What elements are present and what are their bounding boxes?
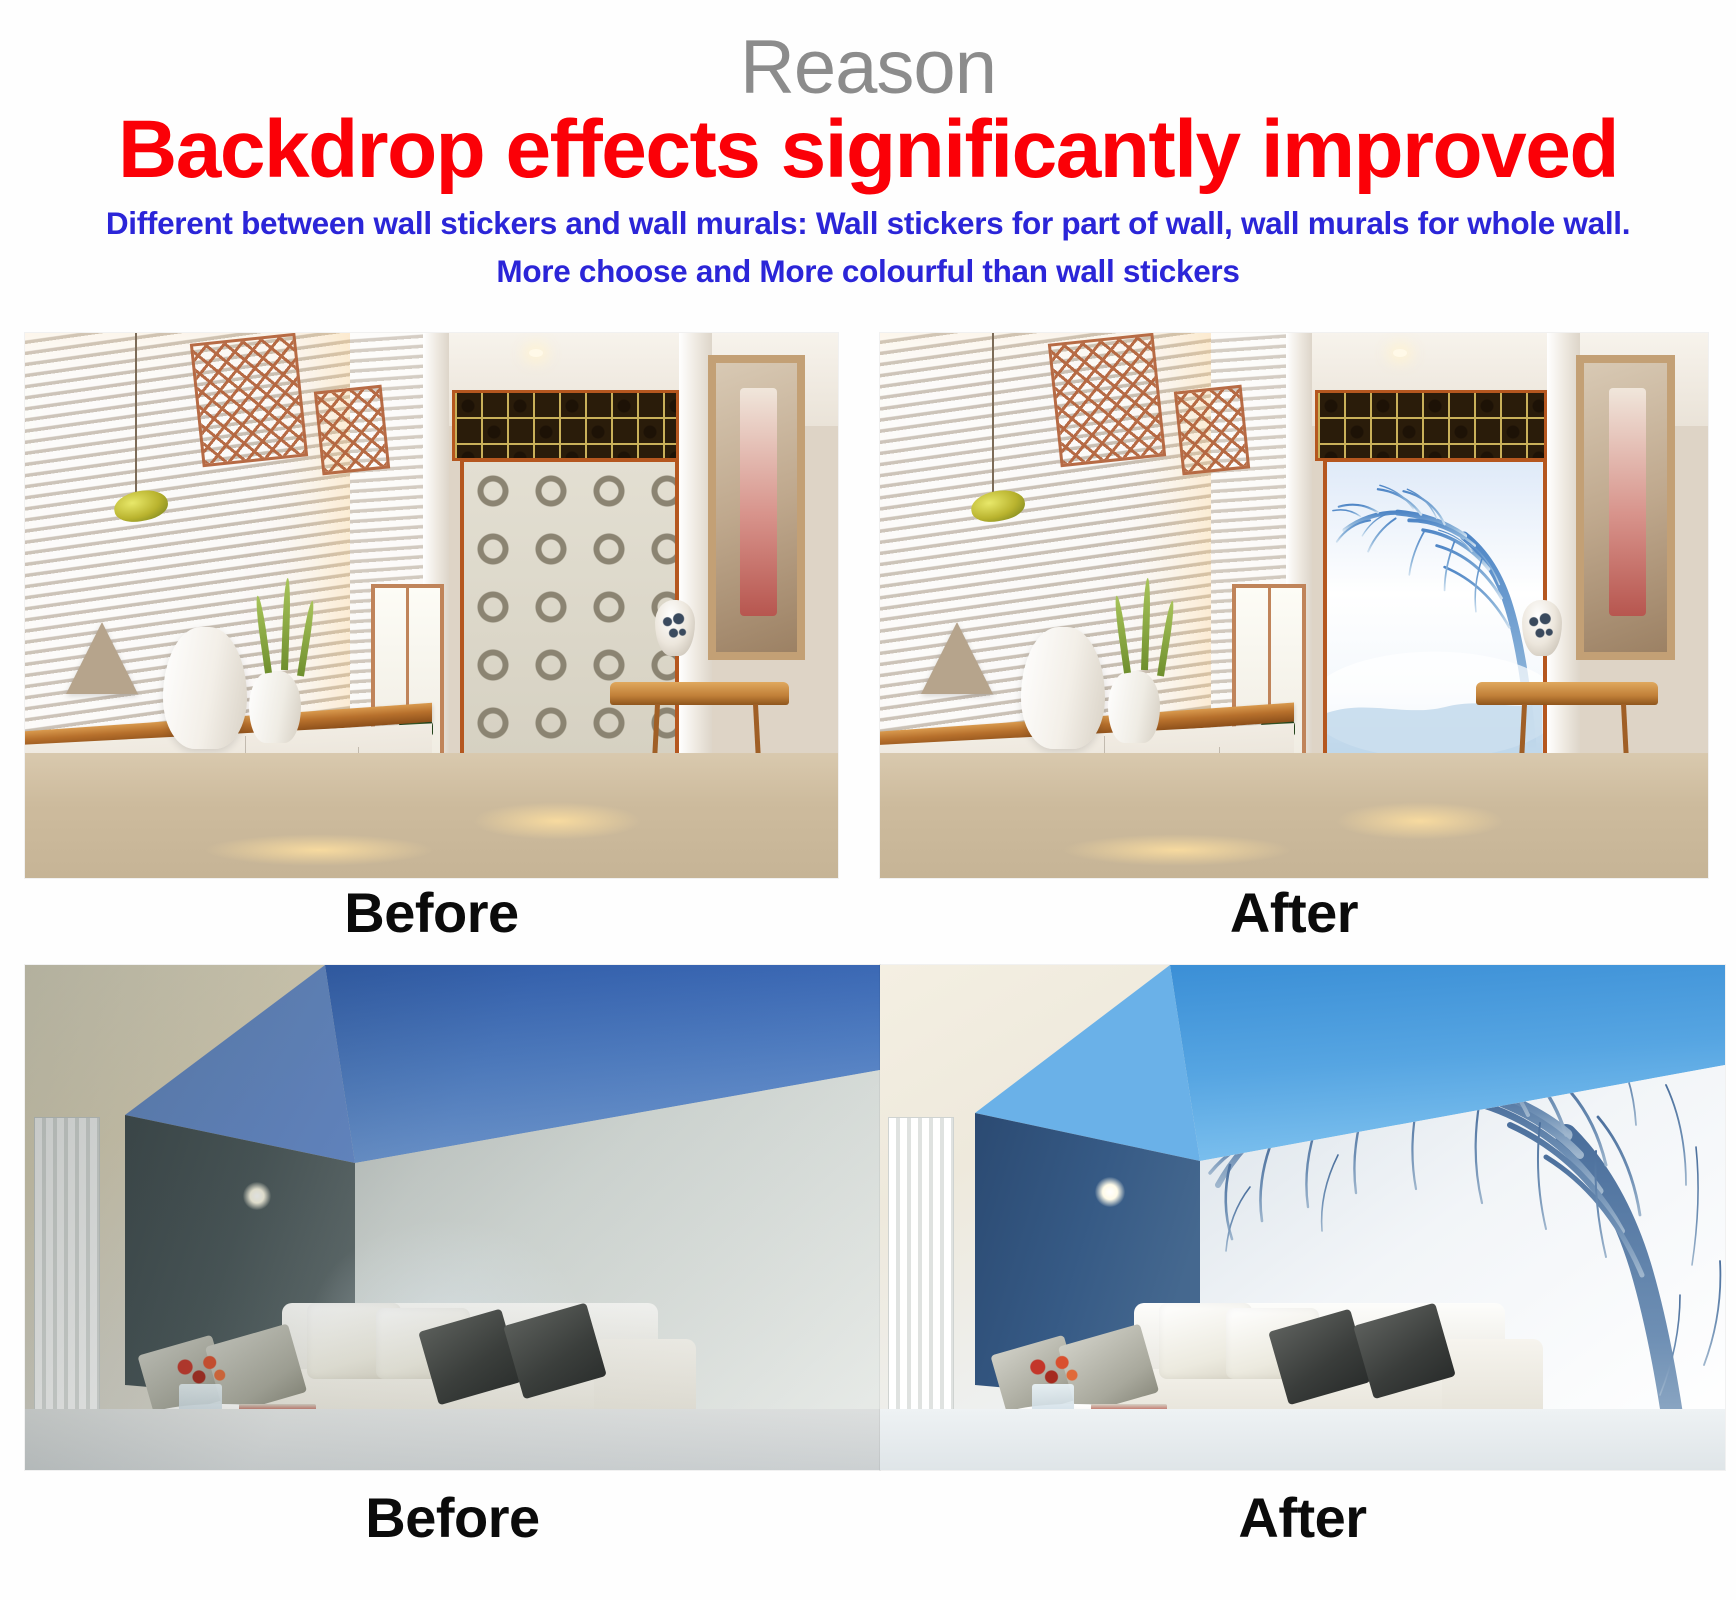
ceiling-spotlight-icon	[243, 1182, 271, 1210]
floor-light-reflection	[472, 802, 642, 840]
urn-pattern	[660, 607, 690, 650]
decorative-urn	[1522, 600, 1562, 656]
photo-living-room-after	[880, 965, 1725, 1470]
tall-white-vase	[1021, 627, 1105, 749]
lattice-ornament-icon	[313, 384, 389, 475]
caption-living-after: After	[880, 1490, 1725, 1546]
lattice-ornament-icon	[1048, 333, 1166, 467]
pendant-cord	[992, 333, 994, 497]
ornamental-tile-band	[1315, 390, 1547, 461]
cone-sculpture	[66, 622, 138, 694]
page-header: Reason Backdrop effects significantly im…	[0, 0, 1736, 320]
plain-patterned-wall	[460, 458, 680, 758]
photo-hallway-before	[25, 333, 838, 878]
subtitle-line-2: More choose and More colourful than wall…	[0, 253, 1736, 290]
hallway-scene-before	[25, 333, 838, 878]
caption-living-before: Before	[25, 1490, 880, 1546]
floor-light-reflection	[1335, 802, 1505, 840]
urn-pattern	[1526, 607, 1556, 650]
radiator-panel	[34, 1117, 100, 1412]
decorative-drape	[740, 388, 777, 617]
side-table-top	[1476, 682, 1658, 705]
pendant-cord	[135, 333, 137, 497]
floor	[25, 1409, 880, 1470]
tree-mural-artwork	[1327, 462, 1543, 754]
caption-hallway-before: Before	[25, 885, 838, 941]
photo-hallway-after	[880, 333, 1708, 878]
tree-wall-mural	[1323, 458, 1547, 758]
hallway-scene-after	[880, 333, 1708, 878]
photo-living-room-before	[25, 965, 880, 1470]
eyebrow-text: Reason	[0, 30, 1736, 106]
lattice-ornament-icon	[190, 333, 308, 467]
red-flowers	[162, 1349, 239, 1394]
ornamental-tile-band	[452, 390, 680, 461]
ribbed-white-pot	[1108, 671, 1160, 743]
subtitle-line-1: Different between wall stickers and wall…	[0, 205, 1736, 242]
floor	[880, 753, 1708, 878]
lattice-ornament-icon	[1174, 384, 1250, 475]
floor	[880, 1409, 1725, 1470]
cone-sculpture	[921, 622, 993, 694]
red-flowers	[1015, 1349, 1091, 1394]
caption-hallway-after: After	[880, 885, 1708, 941]
tall-white-vase	[163, 627, 247, 749]
side-table-top	[610, 682, 789, 705]
living-room-scene-after	[880, 965, 1725, 1470]
decorative-urn	[655, 600, 695, 656]
floor	[25, 753, 838, 878]
ribbed-white-pot	[249, 671, 301, 743]
page-title: Backdrop effects significantly improved	[0, 108, 1736, 192]
living-room-scene-before	[25, 965, 880, 1470]
decorative-drape	[1609, 388, 1646, 617]
radiator-panel	[888, 1117, 953, 1412]
